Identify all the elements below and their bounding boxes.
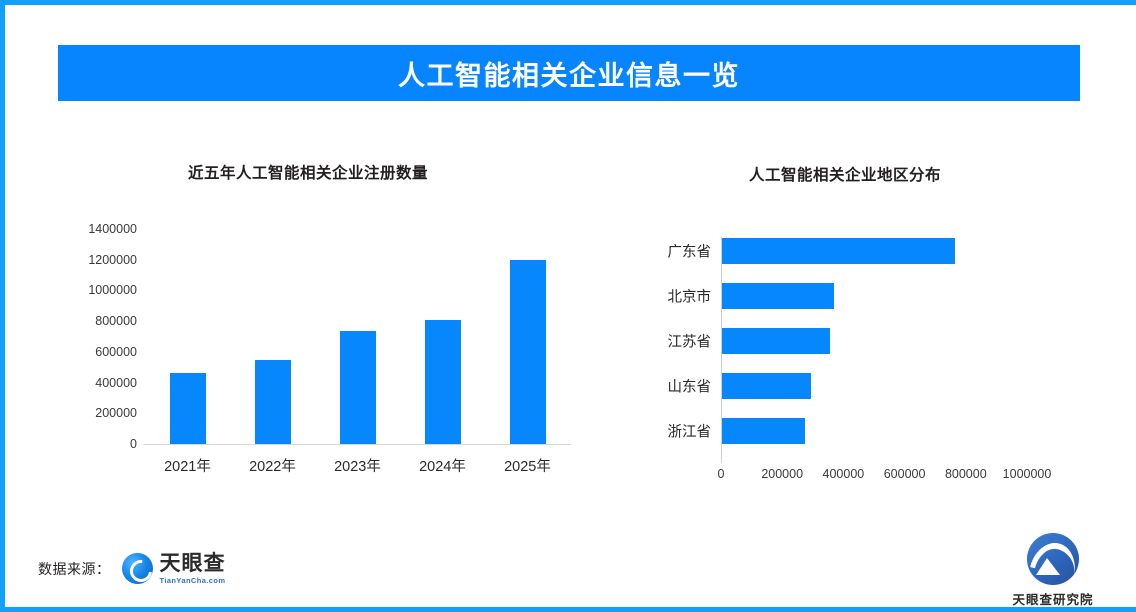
x-tick-label: 2025年 [504, 455, 551, 476]
x-tick-label: 2024年 [419, 455, 466, 476]
chart-title-registrations: 近五年人工智能相关企业注册数量 [188, 161, 428, 183]
bar [722, 283, 834, 309]
x-axis-line [143, 444, 571, 445]
bar [722, 238, 955, 264]
bar-column [340, 229, 376, 444]
y-tick-label: 800000 [95, 314, 137, 328]
vertical-bar-plot-area [145, 229, 570, 444]
x-tick-label: 2022年 [249, 455, 296, 476]
x-tick-label: 0 [718, 467, 725, 481]
data-source-footer: 数据来源： 天眼查 TianYanCha.com [38, 553, 226, 585]
bar [425, 320, 461, 444]
y-tick-label: 600000 [95, 345, 137, 359]
page-title: 人工智能相关企业信息一览 [398, 54, 740, 93]
bar-column [255, 229, 291, 444]
x-tick-label: 2021年 [164, 455, 211, 476]
category-label: 浙江省 [645, 421, 711, 442]
y-tick-label: 1400000 [88, 222, 137, 236]
y-tick-label: 200000 [95, 406, 137, 420]
header-banner: 人工智能相关企业信息一览 [58, 45, 1080, 101]
tianyancha-wordmark: 天眼查 TianYanCha.com [160, 553, 226, 585]
data-source-label: 数据来源： [38, 559, 111, 579]
bar [722, 418, 805, 444]
bar [340, 331, 376, 444]
tianyancha-eye-icon [122, 553, 153, 584]
y-tick-label: 400000 [95, 376, 137, 390]
x-tick-label: 1000000 [1003, 467, 1052, 481]
vertical-bar-chart: 1400000120000010000008000006000004000002… [85, 221, 575, 471]
tianyancha-name-cn: 天眼查 [160, 553, 226, 574]
horizontal-bar-chart: 广东省北京市江苏省山东省浙江省 020000040000060000080000… [645, 215, 1045, 475]
institute-emblem-icon [1027, 533, 1079, 585]
category-label: 江苏省 [645, 331, 711, 352]
bar [170, 373, 206, 444]
x-tick-label: 600000 [884, 467, 926, 481]
chart-panel-registrations: 近五年人工智能相关企业注册数量 140000012000001000000800… [85, 153, 585, 513]
x-tick-label: 400000 [823, 467, 865, 481]
y-tick-label: 1200000 [88, 253, 137, 267]
bar [510, 260, 546, 444]
chart-panel-regions: 人工智能相关企业地区分布 广东省北京市江苏省山东省浙江省 02000004000… [645, 153, 1085, 513]
infographic-page: 人工智能相关企业信息一览 近五年人工智能相关企业注册数量 14000001200… [0, 0, 1136, 612]
institute-name: 天眼查研究院 [1012, 589, 1093, 608]
bar-column [425, 229, 461, 444]
tianyancha-logo: 天眼查 TianYanCha.com [122, 553, 226, 585]
x-tick-label: 200000 [761, 467, 803, 481]
bar-column [170, 229, 206, 444]
bar-column [510, 229, 546, 444]
x-tick-label: 800000 [945, 467, 987, 481]
category-label: 北京市 [645, 286, 711, 307]
y-tick-label: 0 [130, 437, 137, 451]
tianyancha-name-en: TianYanCha.com [160, 577, 226, 585]
x-tick-label: 2023年 [334, 455, 381, 476]
chart-title-regions: 人工智能相关企业地区分布 [749, 163, 941, 185]
category-label: 山东省 [645, 376, 711, 397]
bar [722, 328, 830, 354]
category-label: 广东省 [645, 241, 711, 262]
bar [255, 360, 291, 444]
bar [722, 373, 811, 399]
institute-logo: 天眼查研究院 [1005, 533, 1101, 608]
y-tick-label: 1000000 [88, 283, 137, 297]
